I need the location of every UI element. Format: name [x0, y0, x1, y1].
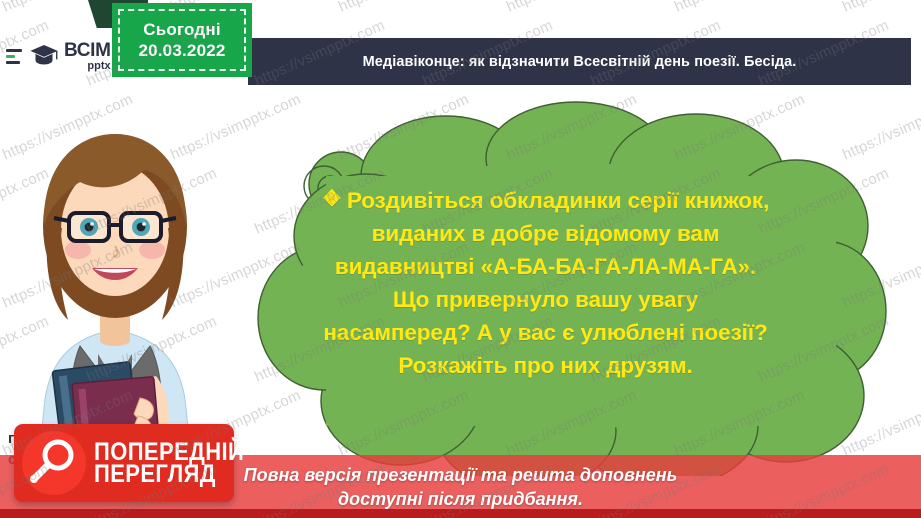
- watermark-text: https://vsimpptx.com: [336, 0, 471, 16]
- today-label: Сьогодні: [143, 20, 221, 40]
- slide-title-bar: Медіавіконце: як відзначити Всесвітній д…: [248, 38, 911, 85]
- banner-line-2: доступні після придбання.: [338, 487, 583, 511]
- presentation-slide: ВСІМ pptx Сьогодні 20.03.2022 Медіавікон…: [0, 0, 921, 518]
- watermark-text: https://vsimpptx.com: [840, 0, 921, 16]
- page-title: Медіавіконце: як відзначити Всесвітній д…: [363, 54, 797, 70]
- watermark-text: https://vsimpptx.com: [672, 0, 807, 16]
- bubble-text-value: Роздивіться обкладинки серії книжок, вид…: [323, 188, 769, 378]
- magnifier-icon: [22, 431, 86, 495]
- logo-sub-text: pptx: [64, 61, 111, 72]
- today-date: 20.03.2022: [138, 41, 225, 61]
- bubble-body-text: ❖Роздивіться обкладинки серії книжок, ви…: [318, 182, 773, 382]
- banner-line-1: Повна версія презентації та решта доповн…: [244, 463, 678, 487]
- today-date-badge: Сьогодні 20.03.2022: [112, 3, 252, 77]
- bullet-diamond-icon: ❖: [322, 182, 342, 215]
- avatar: [14, 108, 229, 468]
- preview-badge[interactable]: ПОПЕРЕДНІЙ ПЕРЕГЛЯД: [14, 424, 234, 502]
- speed-lines-icon: [6, 49, 24, 64]
- watermark-text: https://vsimpptx.com: [504, 0, 639, 16]
- graduation-cap-icon: [27, 39, 61, 73]
- preview-badge-line-2: ПЕРЕГЛЯД: [94, 462, 244, 487]
- brand-logo: ВСІМ pptx: [0, 28, 122, 84]
- logo-brand-text: ВСІМ: [64, 41, 111, 60]
